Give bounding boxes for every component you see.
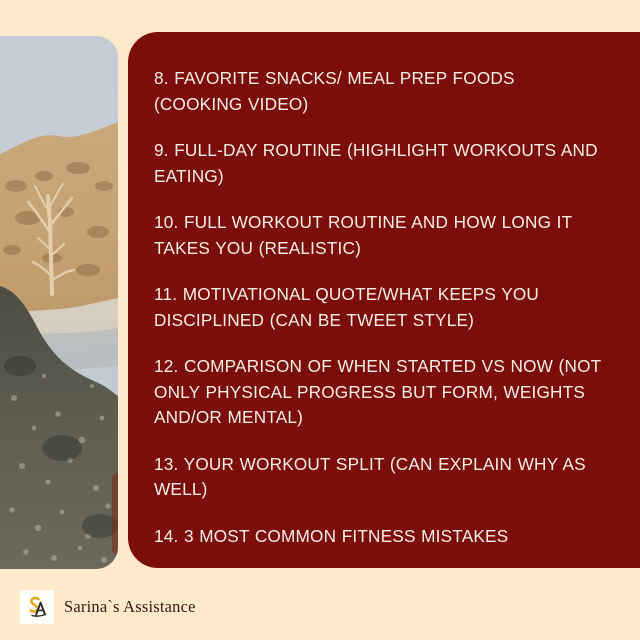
brand-footer: Sarina`s Assistance [20,590,196,624]
content-ideas-list: 8. FAVORITE SNACKS/ MEAL PREP FOODS (COO… [154,66,614,549]
list-item: 8. FAVORITE SNACKS/ MEAL PREP FOODS (COO… [154,66,606,117]
brand-name: Sarina`s Assistance [64,597,196,617]
slide-canvas: 8. FAVORITE SNACKS/ MEAL PREP FOODS (COO… [0,0,640,640]
list-item: 11. MOTIVATIONAL QUOTE/WHAT KEEPS YOU DI… [154,282,606,333]
list-item: 9. FULL-DAY ROUTINE (HIGHLIGHT WORKOUTS … [154,138,606,189]
content-ideas-card: 8. FAVORITE SNACKS/ MEAL PREP FOODS (COO… [128,32,640,568]
list-item: 12. COMPARISON OF WHEN STARTED VS NOW (N… [154,354,606,431]
list-item: 13. YOUR WORKOUT SPLIT (CAN EXPLAIN WHY … [154,452,606,503]
landscape-photo [0,36,118,569]
sa-monogram-icon [20,590,54,624]
list-item: 10. FULL WORKOUT ROUTINE AND HOW LONG IT… [154,210,606,261]
list-item: 14. 3 MOST COMMON FITNESS MISTAKES [154,524,606,550]
